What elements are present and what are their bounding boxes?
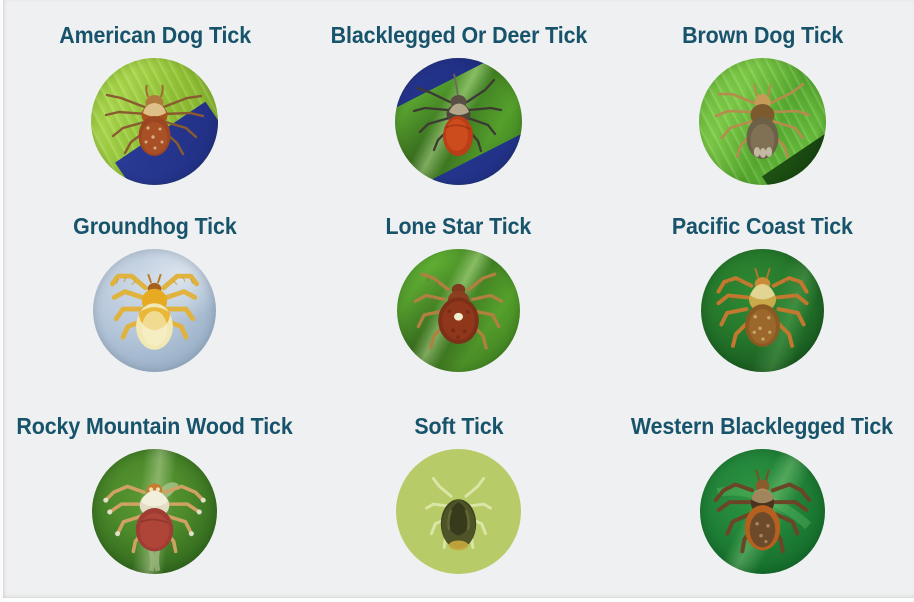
tick-photo-circle[interactable] xyxy=(396,449,521,574)
soft-tick-illustration xyxy=(396,449,521,574)
tick-photo-circle[interactable] xyxy=(701,249,824,372)
species-title: Brown Dog Tick xyxy=(682,24,843,47)
species-card-blacklegged-or-deer-tick[interactable]: Blacklegged Or Deer Tick xyxy=(307,0,611,199)
species-card-brown-dog-tick[interactable]: Brown Dog Tick xyxy=(610,0,914,199)
tick-species-grid: American Dog Tick xyxy=(3,0,914,598)
species-photo-wrap xyxy=(396,449,521,574)
species-photo-wrap xyxy=(93,249,216,372)
tick-photo-circle[interactable] xyxy=(92,449,217,574)
species-card-rocky-mountain-wood-tick[interactable]: Rocky Mountain Wood Tick xyxy=(3,399,307,598)
tick-photo-circle[interactable] xyxy=(91,58,218,185)
species-photo-wrap xyxy=(395,58,522,185)
species-card-groundhog-tick[interactable]: Groundhog Tick xyxy=(3,199,307,398)
species-photo-wrap xyxy=(92,449,217,574)
tick-species-poster: American Dog Tick xyxy=(0,0,914,602)
species-title: Pacific Coast Tick xyxy=(672,215,853,238)
species-card-american-dog-tick[interactable]: American Dog Tick xyxy=(3,0,307,199)
species-photo-wrap xyxy=(397,249,520,372)
species-title: Rocky Mountain Wood Tick xyxy=(17,415,293,438)
species-title: American Dog Tick xyxy=(59,24,251,47)
species-photo-wrap xyxy=(699,58,826,185)
species-card-pacific-coast-tick[interactable]: Pacific Coast Tick xyxy=(610,199,914,398)
species-card-soft-tick[interactable]: Soft Tick xyxy=(307,399,611,598)
species-title: Soft Tick xyxy=(414,415,503,438)
tick-photo-circle[interactable] xyxy=(395,58,522,185)
tick-photo-circle[interactable] xyxy=(700,449,825,574)
species-title: Western Blacklegged Tick xyxy=(631,415,893,438)
species-title: Lone Star Tick xyxy=(386,215,532,238)
tick-photo-circle[interactable] xyxy=(397,249,520,372)
rocky-mountain-wood-tick-illustration xyxy=(92,449,217,574)
species-photo-wrap xyxy=(700,449,825,574)
tick-photo-circle[interactable] xyxy=(93,249,216,372)
species-photo-wrap xyxy=(701,249,824,372)
tick-photo-circle[interactable] xyxy=(699,58,826,185)
lone-star-tick-illustration xyxy=(397,249,520,372)
blacklegged-tick-illustration xyxy=(395,58,522,185)
species-card-western-blacklegged-tick[interactable]: Western Blacklegged Tick xyxy=(610,399,914,598)
brown-dog-tick-illustration xyxy=(699,58,826,185)
groundhog-tick-illustration xyxy=(93,249,216,372)
species-photo-wrap xyxy=(91,58,218,185)
american-dog-tick-illustration xyxy=(91,58,218,185)
species-card-lone-star-tick[interactable]: Lone Star Tick xyxy=(307,199,611,398)
western-blacklegged-tick-illustration xyxy=(700,449,825,574)
species-title: Groundhog Tick xyxy=(73,215,236,238)
pacific-coast-tick-illustration xyxy=(701,249,824,372)
species-title: Blacklegged Or Deer Tick xyxy=(330,24,587,47)
